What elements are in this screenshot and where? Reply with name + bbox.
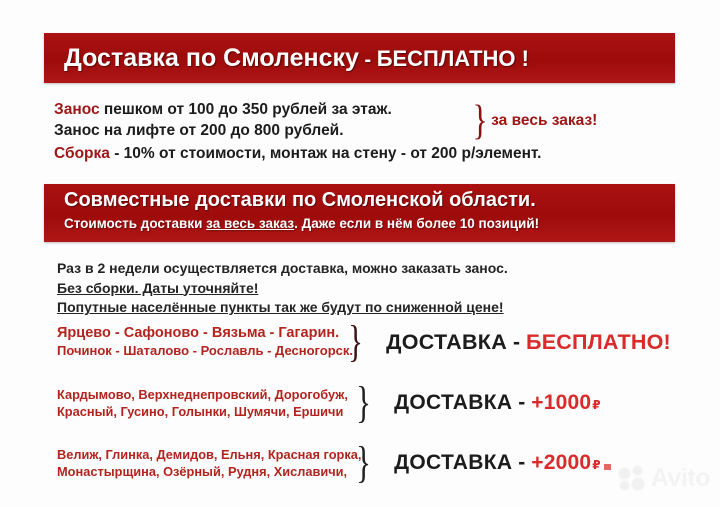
zone-3-towns-line-1: Велиж, Глинка, Демидов, Ельня, Красная г… — [57, 446, 353, 463]
schedule-line-3: Попутные населённые пункты так же будут … — [57, 298, 504, 318]
schedule-line-2: Без сборки. Даты уточняйте! — [57, 279, 258, 299]
regional-banner-title: Совместные доставки по Смоленской област… — [64, 189, 675, 212]
zone-3-price-label: ДОСТАВКА — [394, 451, 512, 475]
pricing-line1-text: пешком от 100 до 350 рублей за этаж. — [100, 101, 392, 118]
pricing-keyword-sborka: Сборка — [54, 145, 110, 162]
zone-3-price-dash: - — [518, 451, 525, 475]
curly-brace-icon: } — [473, 103, 488, 139]
zone-3-price-currency: ₽ — [592, 458, 600, 472]
delivery-zone-row: Кардымово, Верхнеднепровский, Дорогобуж,… — [57, 386, 697, 420]
zone-3-price-amount: +2000 — [531, 451, 591, 475]
schedule-paragraph: Раз в 2 недели осуществляется доставка, … — [57, 259, 677, 318]
curly-brace-icon: } — [356, 446, 371, 480]
curly-brace-icon: } — [348, 325, 363, 359]
zone-2-towns-line-1: Кардымово, Верхнеднепровский, Дорогобуж, — [57, 386, 353, 403]
zone-1-price: ДОСТАВКА - БЕСПЛАТНО! — [386, 330, 672, 355]
pricing-keyword-zanos: Занос — [54, 101, 100, 118]
zone-2-price: ДОСТАВКА - +1000 ₽ — [394, 391, 601, 415]
regional-sub-underlined: за весь заказ — [206, 216, 294, 231]
regional-sub-part1: Стоимость доставки — [64, 216, 206, 231]
zone-1-towns-line-1: Ярцево - Сафоново - Вязьма - Гагарин. — [57, 325, 345, 342]
regional-sub-part2: . Даже если в нём более 10 позиций! — [294, 216, 539, 231]
zone-2-towns: Кардымово, Верхнеднепровский, Дорогобуж,… — [57, 386, 353, 420]
main-banner-title: Доставка по Смоленску - БЕСПЛАТНО ! — [64, 44, 529, 73]
main-banner-free-label: БЕСПЛАТНО ! — [377, 46, 529, 71]
zone-2-price-label: ДОСТАВКА — [394, 391, 512, 415]
zone-1-price-amount: БЕСПЛАТНО! — [526, 330, 671, 355]
zone-1-towns: Ярцево - Сафоново - Вязьма - Гагарин. По… — [57, 325, 345, 359]
main-banner: Доставка по Смоленску - БЕСПЛАТНО ! — [44, 33, 675, 83]
zone-2-price-currency: ₽ — [592, 398, 600, 412]
zone-1-price-label: ДОСТАВКА — [386, 330, 507, 355]
main-banner-separator: - — [359, 49, 377, 71]
zone-3-towns: Велиж, Глинка, Демидов, Ельня, Красная г… — [57, 446, 353, 480]
curly-brace-icon: } — [356, 386, 371, 420]
zone-1-price-dash: - — [513, 331, 520, 355]
whole-order-note: за весь заказ! — [491, 112, 597, 130]
schedule-row-3: Попутные населённые пункты так же будут … — [57, 298, 677, 318]
regional-banner: Совместные доставки по Смоленской област… — [44, 184, 675, 242]
whole-order-note-group: } за весь заказ! — [470, 99, 597, 143]
zone-2-price-amount: +1000 — [531, 391, 591, 415]
watermark-red-mark — [604, 464, 611, 470]
main-banner-title-text: Доставка по Смоленску — [64, 44, 359, 72]
delivery-zone-row: Ярцево - Сафоново - Вязьма - Гагарин. По… — [57, 325, 697, 359]
pricing-line3-text: - 10% от стоимости, монтаж на стену - от… — [110, 145, 542, 162]
zone-2-price-dash: - — [518, 391, 525, 415]
regional-banner-subtitle: Стоимость доставки за весь заказ. Даже е… — [64, 216, 675, 231]
pricing-line-assembly: Сборка - 10% от стоимости, монтаж на сте… — [54, 143, 674, 164]
schedule-row-1: Раз в 2 недели осуществляется доставка, … — [57, 259, 677, 279]
delivery-pricing-infographic: Доставка по Смоленску - БЕСПЛАТНО ! Зано… — [0, 0, 720, 507]
zone-3-towns-line-2: Монастырщина, Озёрный, Рудня, Хиславичи, — [57, 463, 353, 480]
zone-3-price: ДОСТАВКА - +2000 ₽ — [394, 451, 601, 475]
delivery-zone-row: Велиж, Глинка, Демидов, Ельня, Красная г… — [57, 446, 697, 480]
schedule-row-2: Без сборки. Даты уточняйте! — [57, 279, 677, 299]
zone-2-towns-line-2: Красный, Гусино, Голынки, Шумячи, Ершичи — [57, 403, 353, 420]
zone-1-towns-line-2: Починок - Шаталово - Рославль - Десногор… — [57, 342, 345, 359]
schedule-line-1: Раз в 2 недели осуществляется доставка, … — [57, 260, 508, 276]
